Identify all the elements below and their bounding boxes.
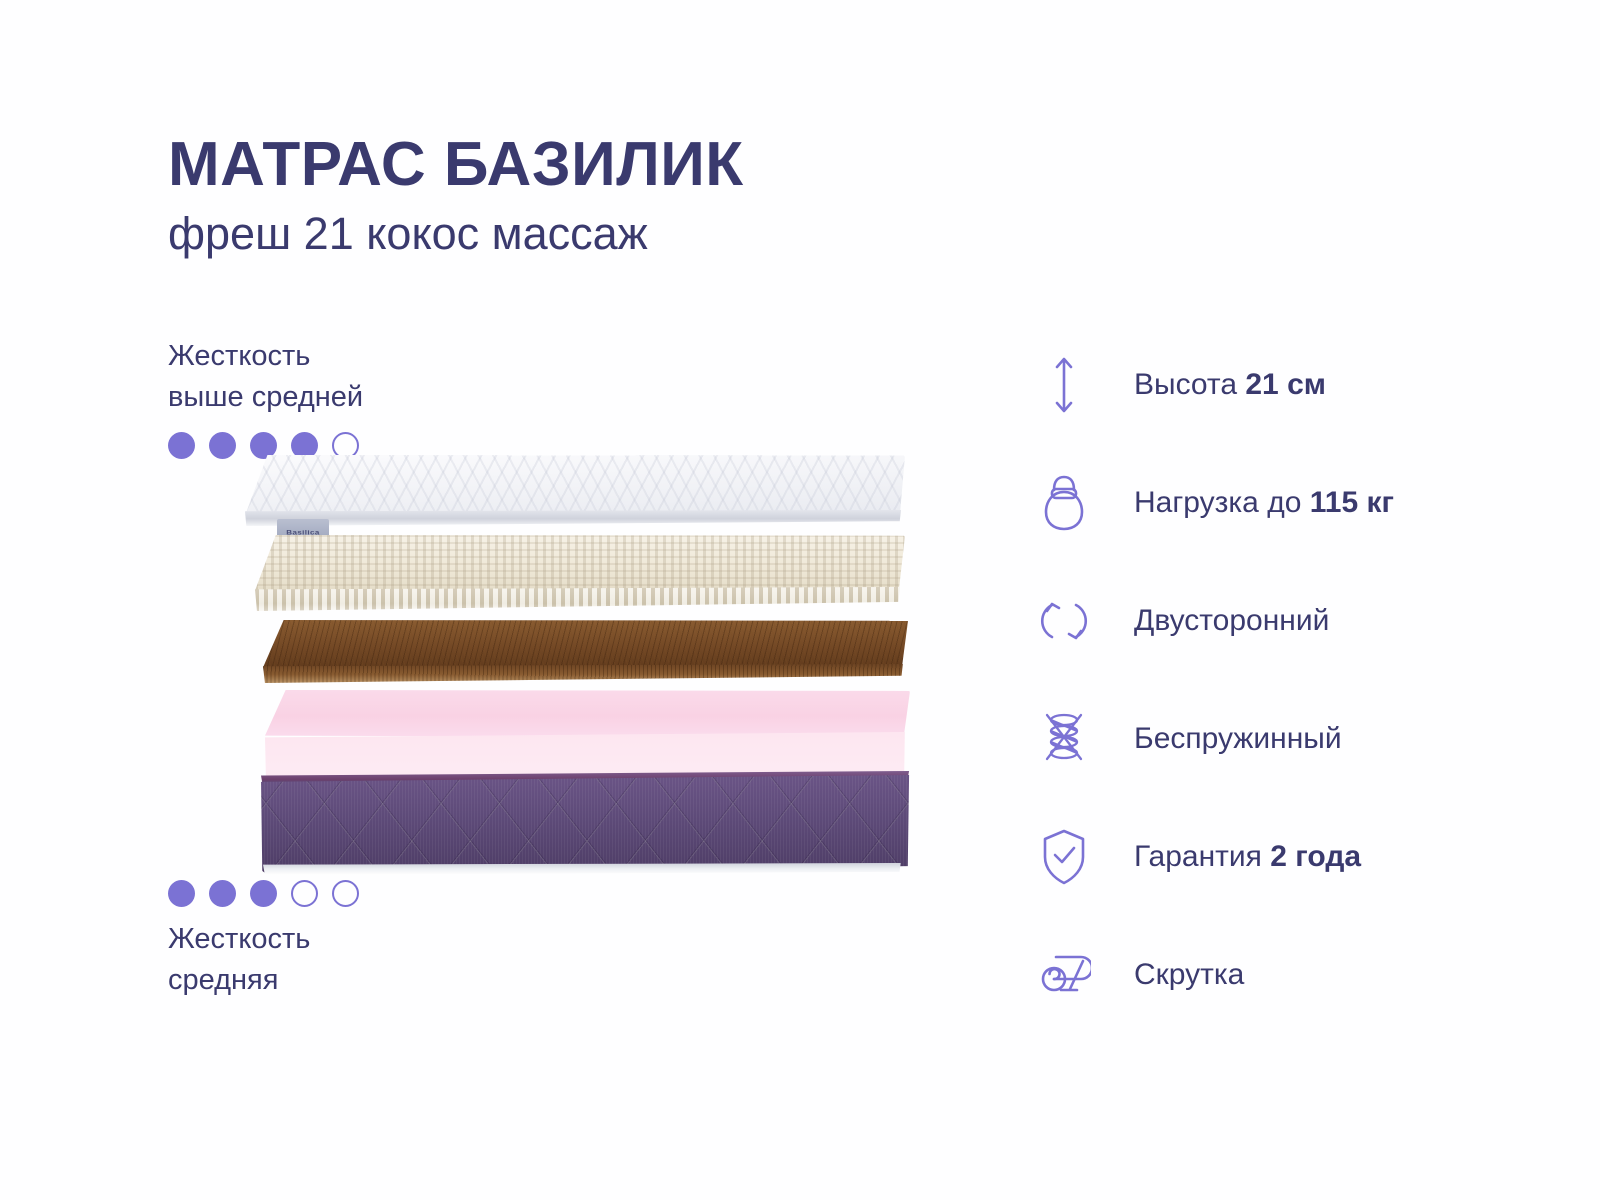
- title-block: матрас БАЗИЛИК фреш 21 кокос массаж: [168, 132, 1068, 259]
- feature-roll: Скрутка: [1036, 916, 1556, 1034]
- feature-load: Нагрузка до 115 кг: [1036, 444, 1556, 562]
- product-infographic: матрас БАЗИЛИК фреш 21 кокос массаж Жест…: [0, 0, 1600, 1200]
- foam-top-surface: [255, 535, 905, 593]
- pink-top-surface: [265, 690, 910, 738]
- feature-warranty: Гарантия 2 года: [1036, 798, 1556, 916]
- page-subtitle: фреш 21 кокос массаж: [168, 209, 1068, 259]
- feature-height-text: Высота 21 см: [1134, 368, 1326, 402]
- height-arrow-icon: [1036, 353, 1092, 417]
- roll-icon: [1036, 943, 1092, 1007]
- firmness-bottom-block: Жесткость средняя: [168, 880, 588, 1001]
- base-quilted-body: [261, 775, 913, 873]
- cover-top-surface: [245, 455, 905, 517]
- feature-springless: Беспружинный: [1036, 680, 1556, 798]
- coir-side-edge: [263, 664, 908, 683]
- firmness-bottom-dots: [168, 880, 588, 907]
- foam-side-edge: [255, 587, 905, 611]
- firmness-dot: [209, 880, 236, 907]
- firmness-dot: [332, 880, 359, 907]
- firmness-dot: [168, 880, 195, 907]
- coir-top-surface: [263, 620, 908, 670]
- page-title: матрас БАЗИЛИК: [168, 132, 1068, 197]
- firmness-dot: [291, 880, 318, 907]
- feature-double-sided-text: Двусторонний: [1134, 604, 1329, 638]
- feature-double-sided: Двусторонний: [1036, 562, 1556, 680]
- feature-warranty-text: Гарантия 2 года: [1134, 840, 1361, 874]
- shield-check-icon: [1036, 825, 1092, 889]
- feature-load-text: Нагрузка до 115 кг: [1134, 486, 1394, 520]
- feature-springless-text: Беспружинный: [1134, 722, 1342, 756]
- mattress-layers-illustration: Basilica: [245, 455, 905, 875]
- massage-foam-layer: [255, 535, 905, 617]
- firmness-bottom-label: Жесткость средняя: [168, 919, 588, 1001]
- firmness-dot: [250, 880, 277, 907]
- firmness-dot: [168, 432, 195, 459]
- firmness-dot: [209, 432, 236, 459]
- quilted-cover-layer: Basilica: [245, 455, 905, 530]
- no-spring-icon: [1036, 707, 1092, 771]
- feature-roll-text: Скрутка: [1134, 958, 1244, 992]
- feature-list: Высота 21 см Нагрузка до 115 кг: [1036, 326, 1556, 1034]
- cover-side-edge: [245, 510, 905, 526]
- rotate-icon: [1036, 589, 1092, 653]
- coconut-coir-layer: [263, 620, 908, 692]
- kettlebell-icon: [1036, 471, 1092, 535]
- firmness-top-label: Жесткость выше средней: [168, 336, 588, 418]
- feature-height: Высота 21 см: [1036, 326, 1556, 444]
- quilted-base-layer: [261, 775, 913, 887]
- firmness-top-block: Жесткость выше средней: [168, 336, 588, 459]
- base-bottom-rim: [263, 863, 905, 875]
